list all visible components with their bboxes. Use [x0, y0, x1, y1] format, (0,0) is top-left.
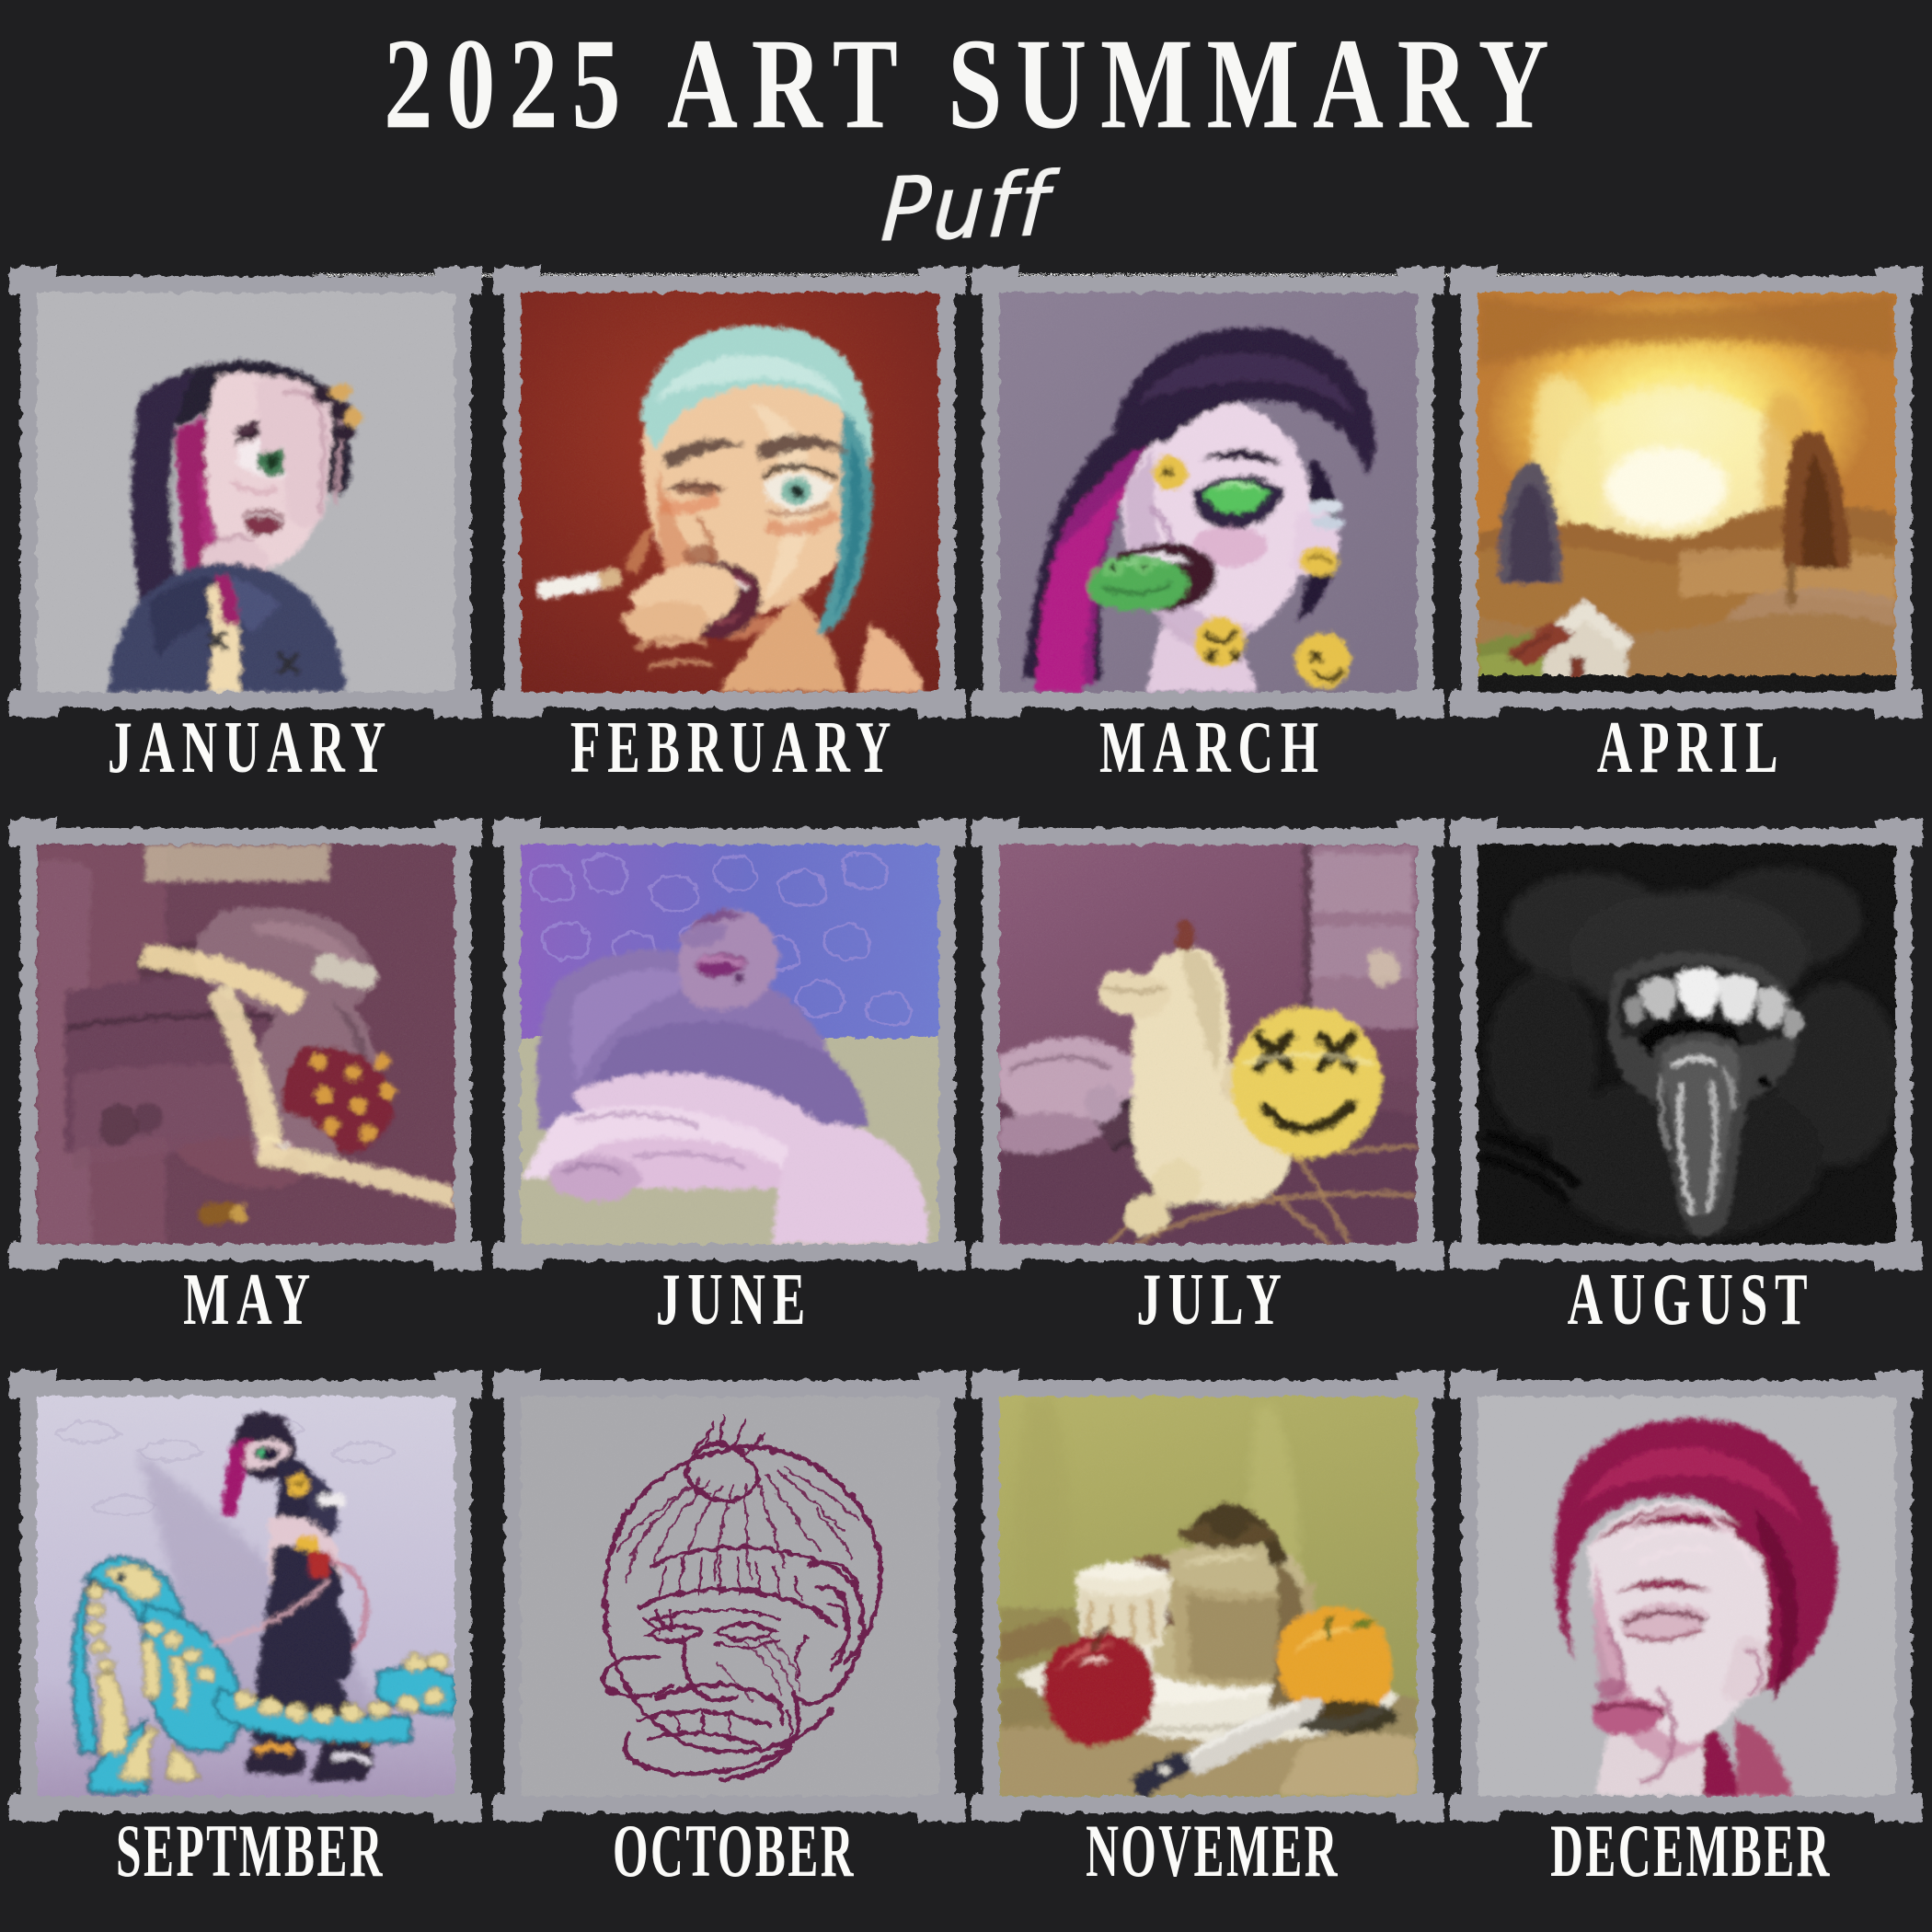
month-label: JANUARY	[52, 706, 448, 790]
artwork-frame	[1461, 1380, 1912, 1812]
artwork-april	[1478, 293, 1895, 692]
artwork-august	[1478, 845, 1895, 1244]
artwork-september	[37, 1397, 454, 1796]
month-cell-august[interactable]: AUGUST	[1461, 828, 1921, 1380]
grid-row: MAY	[0, 828, 1932, 1380]
month-label: JULY	[1015, 1258, 1410, 1342]
month-label: AUGUST	[1493, 1258, 1889, 1342]
month-label: JUNE	[536, 1258, 932, 1342]
artwork-frame	[504, 828, 955, 1260]
artwork-frame	[983, 276, 1433, 708]
month-cell-may[interactable]: MAY	[20, 828, 480, 1380]
month-label: NOVEMER	[1029, 1810, 1397, 1896]
month-label: FEBRUARY	[536, 706, 932, 790]
month-cell-october[interactable]: OCTOBER	[504, 1380, 964, 1932]
artwork-frame	[20, 1380, 471, 1812]
artwork-frame	[1461, 828, 1912, 1260]
month-label: APRIL	[1493, 706, 1889, 790]
artwork-january	[37, 293, 454, 692]
month-label: MARCH	[1015, 706, 1410, 790]
month-cell-march[interactable]: MARCH	[983, 276, 1443, 828]
month-cell-january[interactable]: JANUARY	[20, 276, 480, 828]
artwork-march	[999, 293, 1417, 692]
artwork-frame	[504, 1380, 955, 1812]
artwork-july	[999, 845, 1417, 1244]
month-label: SEPTMBER	[66, 1810, 434, 1896]
artist-signature: Puff	[878, 154, 1053, 262]
artwork-december	[1478, 1397, 1895, 1796]
month-cell-december[interactable]: DECEMBER	[1461, 1380, 1921, 1932]
artwork-frame	[1461, 276, 1912, 708]
artwork-february	[521, 293, 938, 692]
grid-row: JANUARY	[0, 276, 1932, 828]
artwork-october	[521, 1397, 938, 1796]
artwork-frame	[983, 1380, 1433, 1812]
month-cell-april[interactable]: APRIL	[1461, 276, 1921, 828]
artwork-may	[37, 845, 454, 1244]
art-summary-page: 2025 ART SUMMARY Puff	[0, 0, 1932, 1932]
month-cell-september[interactable]: SEPTMBER	[20, 1380, 480, 1932]
artwork-frame	[983, 828, 1433, 1260]
grid-row: SEPTMBER	[0, 1380, 1932, 1932]
month-cell-june[interactable]: JUNE	[504, 828, 964, 1380]
month-label: DECEMBER	[1507, 1810, 1875, 1896]
title-block: 2025 ART SUMMARY Puff	[0, 0, 1932, 276]
artwork-frame	[20, 276, 471, 708]
month-label: OCTOBER	[550, 1810, 918, 1896]
artwork-frame	[504, 276, 955, 708]
page-title: 2025 ART SUMMARY	[370, 19, 1562, 150]
month-cell-july[interactable]: JULY	[983, 828, 1443, 1380]
artwork-november	[999, 1397, 1417, 1796]
artwork-frame	[20, 828, 471, 1260]
month-cell-february[interactable]: FEBRUARY	[504, 276, 964, 828]
month-grid: JANUARY	[0, 276, 1932, 1932]
month-cell-november[interactable]: NOVEMER	[983, 1380, 1443, 1932]
artwork-june	[521, 845, 938, 1244]
month-label: MAY	[52, 1258, 448, 1342]
